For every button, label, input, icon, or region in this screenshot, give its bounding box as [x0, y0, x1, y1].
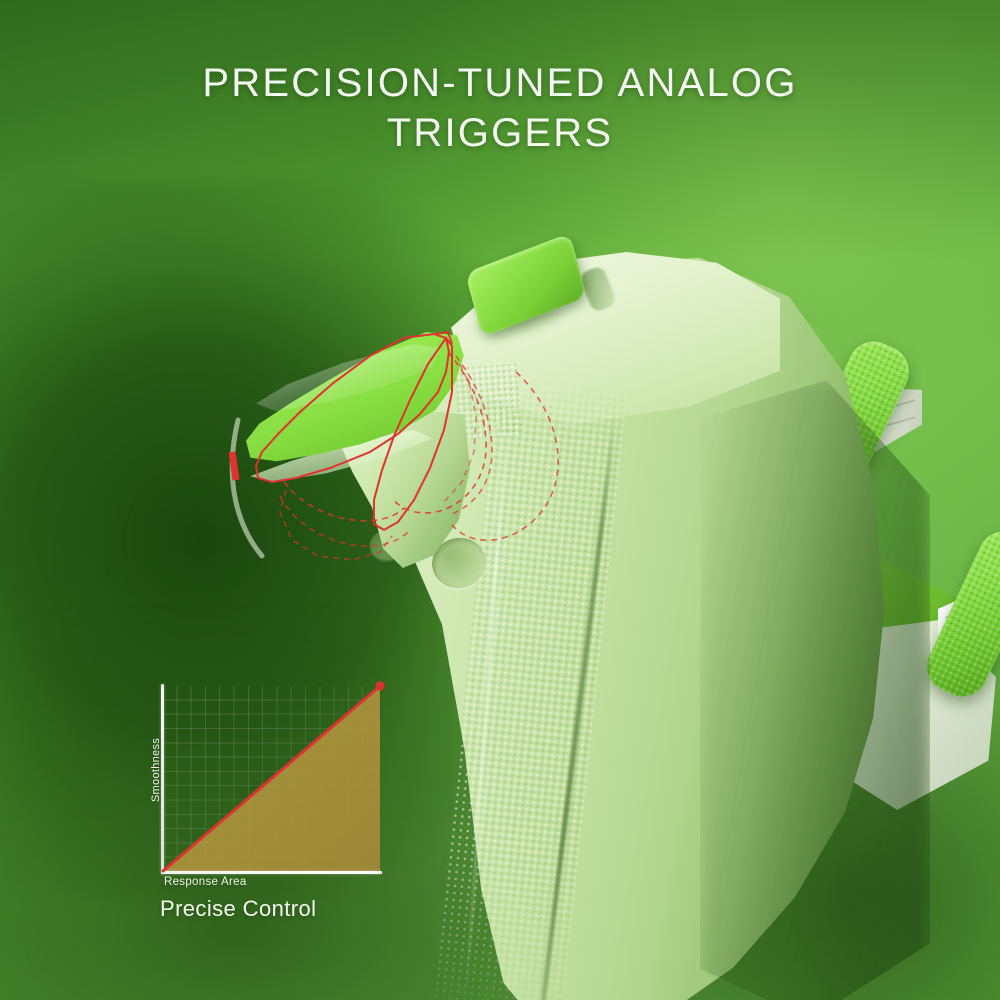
chart-caption: Precise Control	[160, 896, 316, 922]
inset-chart: Smoothness Response Area Precise Control	[130, 668, 400, 930]
chart-endpoint-marker	[375, 681, 384, 690]
product-hero-image: PRECISION-TUNED ANALOG TRIGGERS	[0, 0, 1000, 1000]
chart-trend-line	[163, 686, 380, 871]
chart-x-axis-label: Response Area	[164, 876, 247, 888]
chart-y-axis-label: Smoothness	[150, 722, 162, 818]
controller-body-shadow	[700, 380, 930, 1000]
trigger-travel-range-marker	[232, 452, 236, 480]
chart-series-line	[130, 668, 400, 930]
